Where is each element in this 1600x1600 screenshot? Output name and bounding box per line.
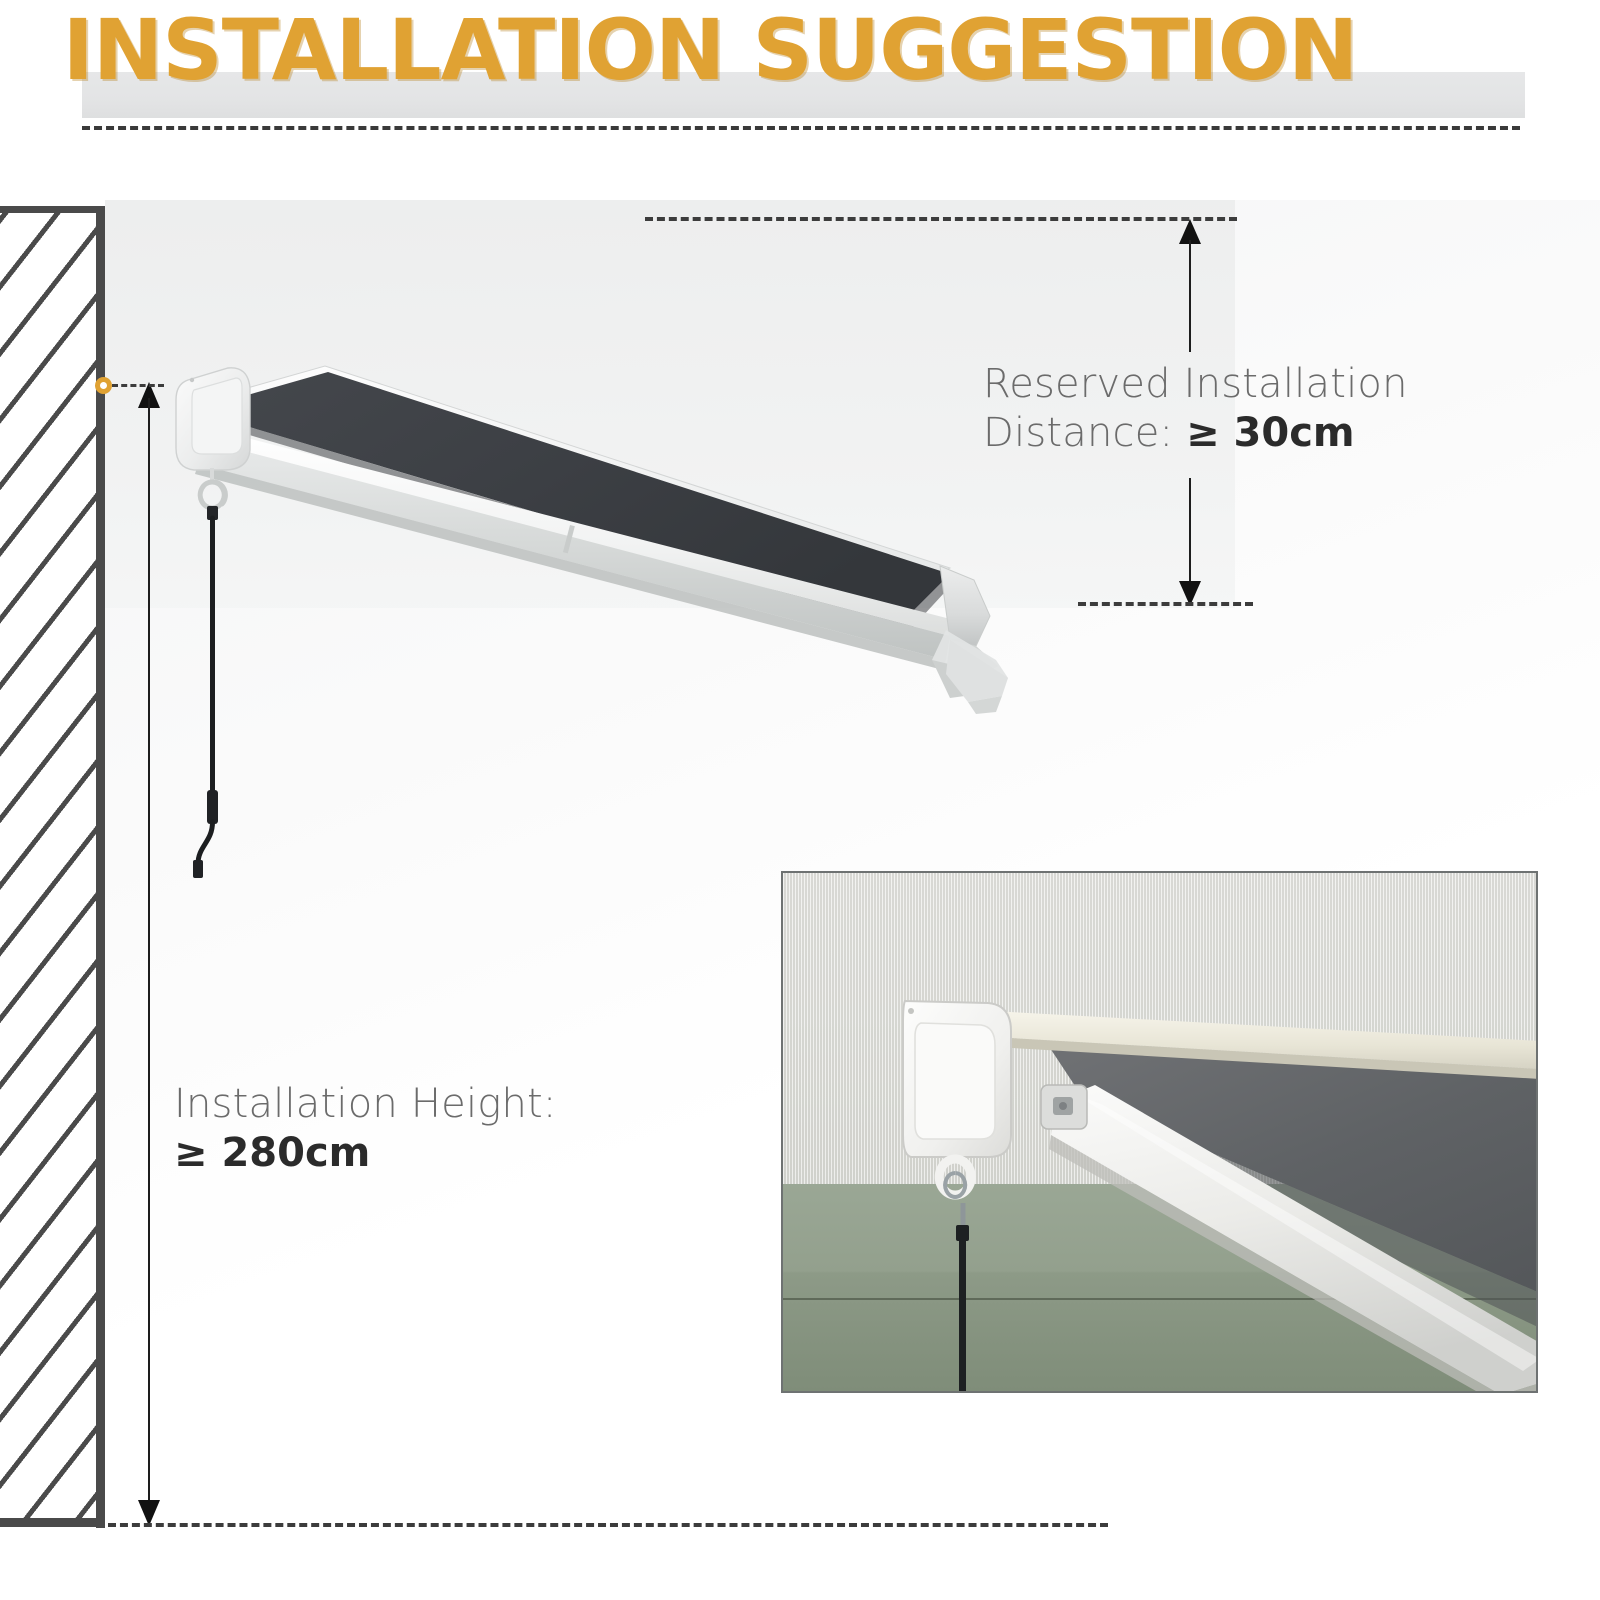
photo-end-cap-bracket: [903, 1001, 1011, 1157]
awning-right-end-cap: [932, 566, 1008, 714]
awning-left-end-cap: [176, 368, 250, 470]
reserved-distance-label: Distance:: [983, 410, 1186, 456]
distance-dimension-line-lower: [1189, 478, 1191, 590]
photo-crank-hook-rod: [939, 1159, 971, 1393]
ground-level-dashed-line: [108, 1523, 1108, 1527]
infographic-canvas: INSTALLATION SUGGESTION: [0, 0, 1600, 1600]
mount-point-leader-line: [112, 384, 164, 387]
awning-illustration: [150, 330, 1100, 950]
installation-height-value: ≥ 280cm: [174, 1129, 557, 1178]
reserved-distance-callout: Reserved Installation Distance: ≥ 30cm: [983, 360, 1408, 458]
wall-edge-bottom: [0, 1518, 105, 1527]
reserved-distance-value: ≥ 30cm: [1186, 410, 1355, 456]
reserved-distance-line1: Reserved Installation: [983, 360, 1408, 409]
ceiling-dashed-line: [645, 217, 1237, 221]
photo-arm-elbow: [1041, 1085, 1087, 1129]
installation-height-callout: Installation Height: ≥ 280cm: [174, 1080, 557, 1178]
awning-top-dashed-line: [1078, 602, 1253, 606]
reserved-distance-line2: Distance: ≥ 30cm: [983, 409, 1408, 458]
page-title: INSTALLATION SUGGESTION: [0, 8, 1420, 92]
mounting-point-marker-icon: [95, 377, 112, 394]
installation-height-line1: Installation Height:: [174, 1080, 557, 1129]
photo-awning-overlay: [783, 873, 1538, 1393]
wall-edge-right: [96, 206, 105, 1528]
wall-hatch-pattern: [0, 206, 102, 1526]
crank-hook-and-rod: [193, 468, 225, 878]
title-underline-dashed: [82, 126, 1520, 130]
wall-edge-top: [0, 206, 105, 213]
installation-photo-inset: [781, 871, 1538, 1393]
distance-dimension-line-upper: [1189, 240, 1191, 352]
wall-hatch-section: [0, 206, 102, 1526]
